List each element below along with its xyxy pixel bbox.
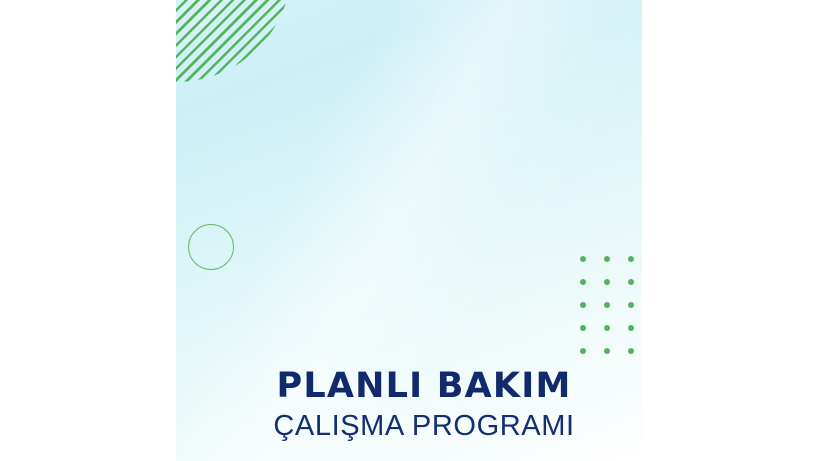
circle-outline-decoration — [188, 224, 234, 270]
dot-grid-right-decoration — [580, 256, 642, 371]
page-title: PLANLI BAKIM — [176, 369, 642, 404]
diagonal-stripes-decoration — [176, 0, 292, 82]
page-subtitle: ÇALIŞMA PROGRAMI — [176, 412, 642, 441]
maintenance-notice-poster: PLANLI BAKIM ÇALIŞMA PROGRAMI — [176, 0, 642, 461]
screenshot-root: PLANLI BAKIM ÇALIŞMA PROGRAMI — [0, 0, 820, 461]
poster-title-block: PLANLI BAKIM ÇALIŞMA PROGRAMI — [176, 369, 642, 441]
